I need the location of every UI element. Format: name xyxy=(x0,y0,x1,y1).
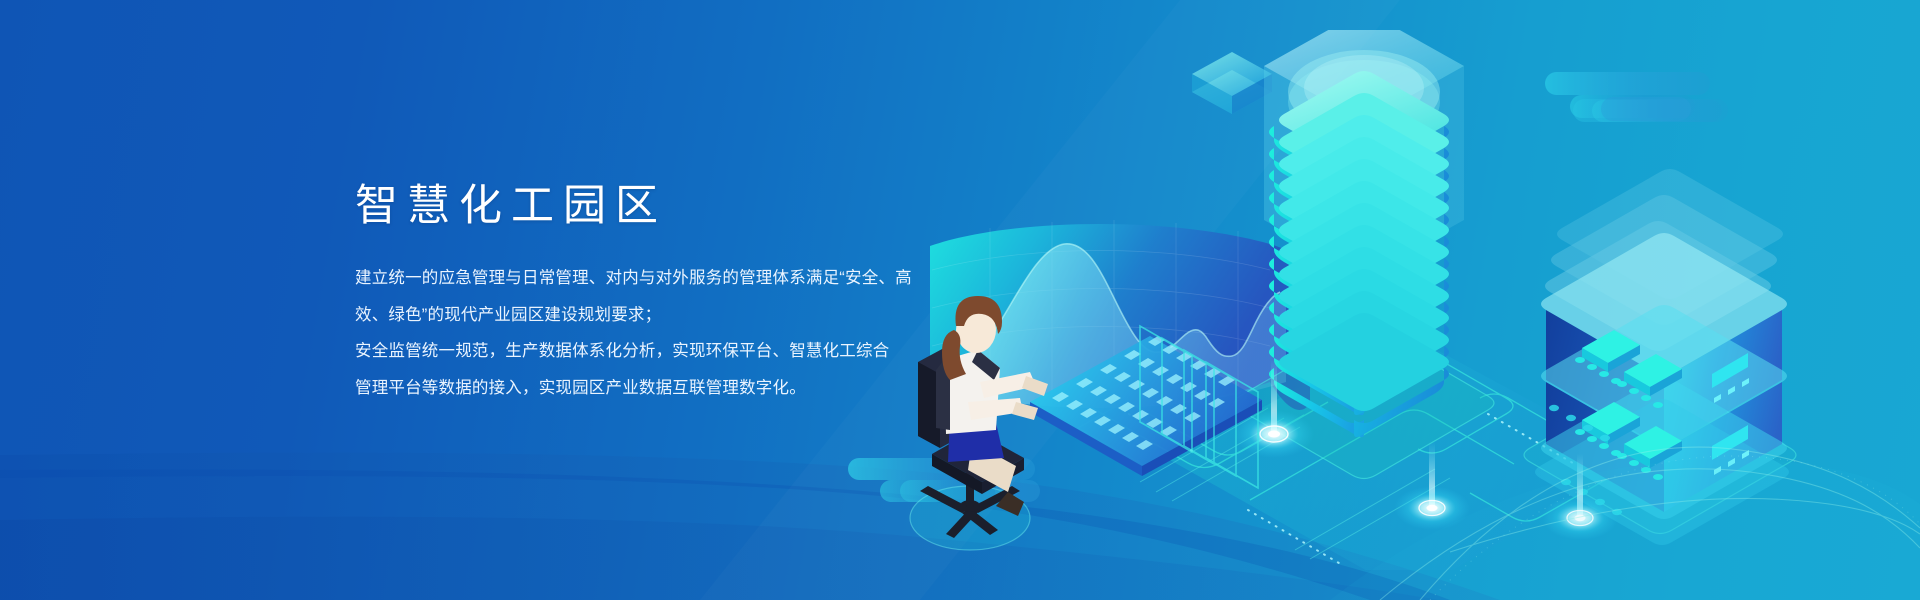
floating-cube-icon xyxy=(1192,52,1272,114)
page-title: 智慧化工园区 xyxy=(355,182,975,230)
hero-banner: 智慧化工园区 建立统一的应急管理与日常管理、对内与对外服务的管理体系满足“安全、… xyxy=(0,0,1920,600)
hero-illustration xyxy=(840,30,1920,570)
hero-description: 建立统一的应急管理与日常管理、对内与对外服务的管理体系满足“安全、高 效、绿色”… xyxy=(355,260,975,406)
hero-text-block: 智慧化工园区 建立统一的应急管理与日常管理、对内与对外服务的管理体系满足“安全、… xyxy=(355,182,975,406)
description-line-4: 管理平台等数据的接入，实现园区产业数据互联管理数字化。 xyxy=(355,370,975,407)
server-rack-right xyxy=(1524,169,1796,545)
description-line-3: 安全监管统一规范，生产数据体系化分析，实现环保平台、智慧化工综合 xyxy=(355,333,975,370)
description-line-1: 建立统一的应急管理与日常管理、对内与对外服务的管理体系满足“安全、高 xyxy=(355,260,975,297)
description-line-2: 效、绿色”的现代产业园区建设规划要求； xyxy=(355,297,975,334)
